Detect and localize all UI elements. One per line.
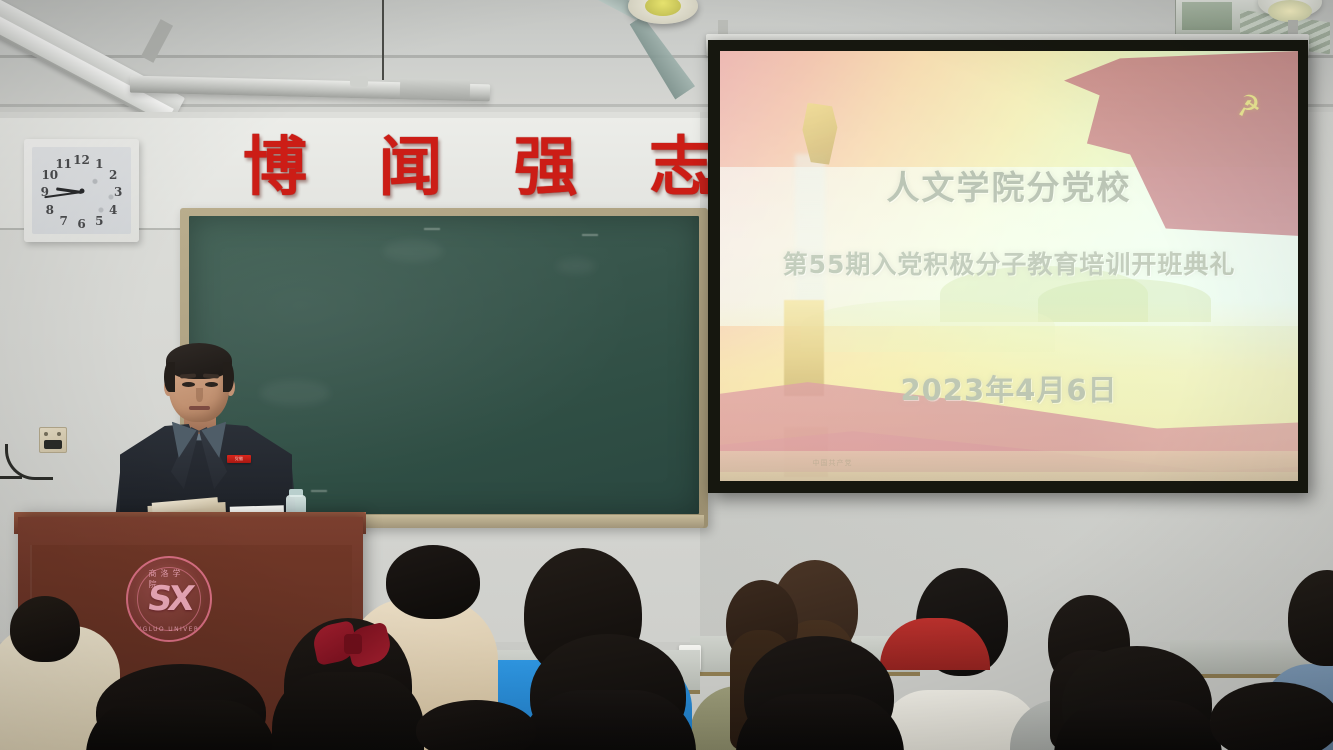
- emblem-monogram: SX: [145, 579, 193, 619]
- clock-number: 4: [109, 203, 117, 217]
- fluorescent-tube-cap: [400, 78, 470, 99]
- university-emblem: 商洛学院 SX SHANGLUO UNIVERSITY: [126, 556, 212, 642]
- slide-subtitle: 第55期入党积极分子教育培训开班典礼: [720, 245, 1298, 281]
- presenter-hair-side: [164, 362, 175, 392]
- chalk-mark: [582, 234, 598, 236]
- power-cable: [0, 476, 22, 479]
- projection-screen: ☭ 中国共产党 人文学院分党校 第55期入党积极分子教育培训开班典礼 2023年…: [708, 40, 1308, 493]
- clock-number: 5: [95, 214, 103, 228]
- student-hair: [86, 700, 276, 750]
- slide-date: 2023年4月6日: [720, 367, 1298, 409]
- clock-number: 11: [55, 157, 72, 171]
- clock-center-pin: [79, 188, 84, 193]
- motto-char-2: 闻: [378, 136, 442, 200]
- clock-number: 2: [109, 168, 117, 182]
- student-head: [386, 545, 480, 619]
- chalk-smudge: [556, 258, 596, 274]
- hanging-wire: [382, 0, 384, 80]
- clock-number: 6: [77, 217, 85, 231]
- student-hair: [272, 672, 424, 750]
- classroom-photo: 博 闻 强 志 12 1 2 3 4 5 6 7 8 9 10 11: [0, 0, 1333, 750]
- clock-number: 8: [46, 203, 54, 217]
- clock-face: 12 1 2 3 4 5 6 7 8 9 10 11: [32, 147, 131, 234]
- wall-clock: 12 1 2 3 4 5 6 7 8 9 10 11: [24, 139, 139, 242]
- clock-number: 3: [114, 185, 122, 199]
- wall-motto: 博 闻 强 志: [243, 128, 713, 208]
- clock-number: 7: [59, 214, 67, 228]
- outlet-hole: [44, 432, 48, 436]
- student-head: [1210, 682, 1333, 750]
- slide-canvas: ☭ 中国共产党 人文学院分党校 第55期入党积极分子教育培训开班典礼 2023年…: [720, 51, 1298, 481]
- ceiling-vent-inner: [1182, 2, 1232, 30]
- chalk-mark: [424, 228, 440, 230]
- chalk-smudge: [383, 240, 443, 262]
- presenter-nose: [196, 388, 203, 402]
- slide-fine-print: 中国共产党: [812, 458, 852, 468]
- motto-char-1: 博: [243, 136, 307, 200]
- chalk-mark: [311, 490, 327, 492]
- chalk-smudge: [260, 380, 330, 406]
- student-head: [10, 596, 80, 662]
- outlet-hole: [57, 432, 61, 436]
- tube-knob: [350, 76, 368, 87]
- ceiling-lamp-glow: [1268, 0, 1312, 22]
- presenter-eye: [182, 382, 195, 387]
- motto-char-3: 强: [514, 136, 578, 200]
- clock-minute-hand: [44, 191, 82, 198]
- slide-bottom-strip: [720, 451, 1298, 481]
- emblem-english-name: SHANGLUO UNIVERSITY: [126, 626, 212, 633]
- hair-bow-knot: [344, 634, 362, 654]
- slide-title: 人文学院分党校: [720, 161, 1298, 209]
- party-emblem-icon: ☭: [1235, 90, 1268, 121]
- clock-number: 12: [73, 153, 90, 167]
- clock-number: 1: [95, 157, 103, 171]
- presenter-eye: [205, 382, 218, 387]
- presenter-mouth: [189, 406, 210, 410]
- presenter-hair-side: [223, 362, 234, 392]
- party-badge-label: 党徽: [227, 455, 251, 463]
